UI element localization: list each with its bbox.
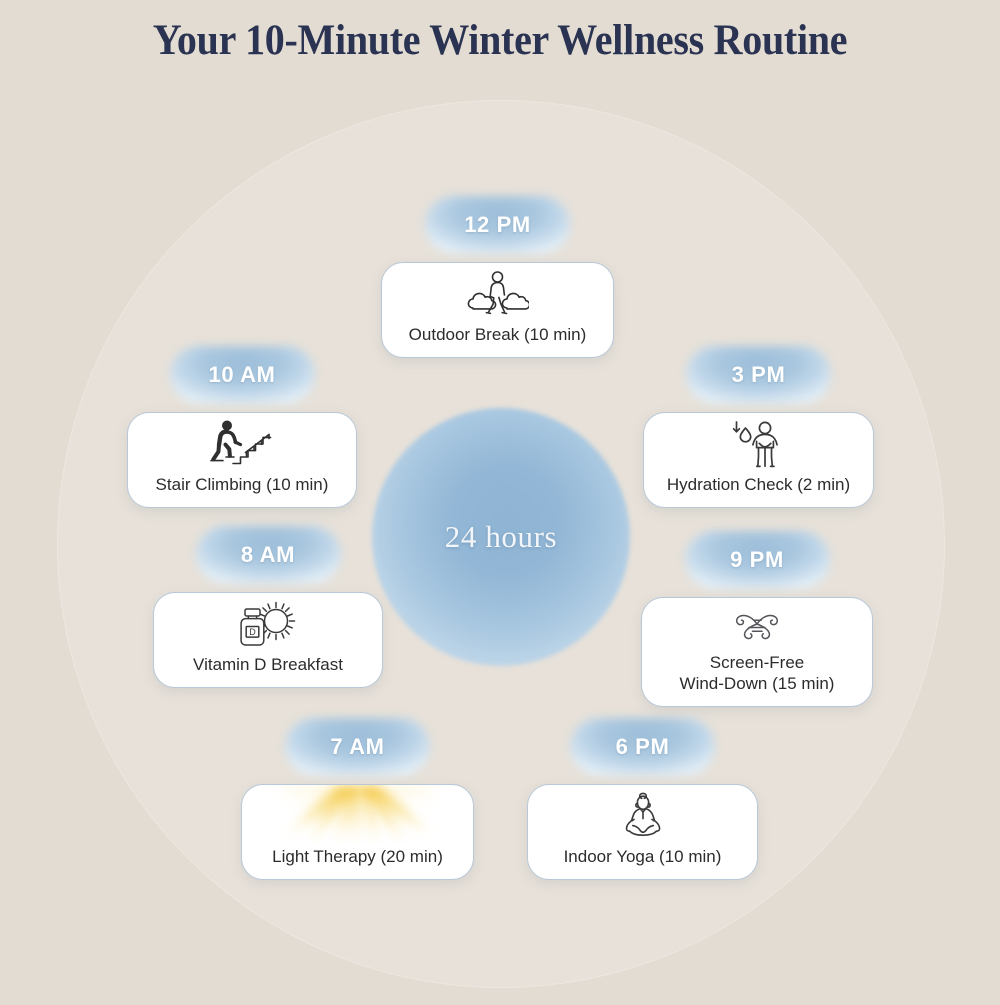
- vitamin-bottle-sun-icon: D: [154, 593, 382, 654]
- infographic-canvas: Your 10-Minute Winter Wellness Routine 2…: [0, 0, 1000, 1005]
- water-droplet-person-icon: [644, 413, 873, 474]
- activity-card-stair-climbing[interactable]: Stair Climbing (10 min): [127, 412, 357, 508]
- node-light-therapy[interactable]: 7 AM: [241, 718, 474, 880]
- stair-climbing-icon: [128, 413, 356, 474]
- activity-card-label: Light Therapy (20 min): [262, 846, 453, 867]
- time-pill-label: 6 PM: [616, 734, 670, 760]
- node-screen-free-wind-down[interactable]: 9 PM Screen-Free Wind-Down (15 min): [641, 531, 873, 707]
- activity-card-indoor-yoga[interactable]: Indoor Yoga (10 min): [527, 784, 758, 880]
- activity-card-hydration-check[interactable]: Hydration Check (2 min): [643, 412, 874, 508]
- node-indoor-yoga[interactable]: 6 PM: [527, 718, 758, 880]
- activity-card-vitamin-d[interactable]: D Vitamin D Breakfast: [153, 592, 383, 688]
- activity-card-label: Outdoor Break (10 min): [399, 324, 597, 345]
- yoga-lotus-pose-icon: [528, 785, 757, 846]
- time-pill-label: 12 PM: [464, 212, 531, 238]
- time-pill-label: 10 AM: [209, 362, 276, 388]
- activity-card-label: Stair Climbing (10 min): [146, 474, 339, 495]
- node-vitamin-d-breakfast[interactable]: 8 AM D Vitamin D Breakfast: [153, 526, 383, 688]
- time-pill-9pm: 9 PM: [685, 531, 830, 589]
- center-orb-label: 24 hours: [372, 408, 630, 666]
- activity-card-light-therapy[interactable]: Light Therapy (20 min): [241, 784, 474, 880]
- node-outdoor-break[interactable]: 12 PM Outdoor Break (10 min): [381, 196, 614, 358]
- page-title: Your 10-Minute Winter Wellness Routine: [35, 16, 965, 65]
- time-pill-label: 3 PM: [732, 362, 786, 388]
- time-pill-12pm: 12 PM: [425, 196, 570, 254]
- node-hydration-check[interactable]: 3 PM Hydration: [643, 346, 874, 508]
- time-pill-label: 8 AM: [241, 542, 295, 568]
- activity-card-wind-down[interactable]: Screen-Free Wind-Down (15 min): [641, 597, 873, 707]
- activity-card-label: Screen-Free Wind-Down (15 min): [670, 652, 845, 694]
- activity-card-label: Indoor Yoga (10 min): [554, 846, 732, 867]
- time-pill-3pm: 3 PM: [686, 346, 831, 404]
- activity-card-label: Vitamin D Breakfast: [183, 654, 353, 675]
- person-walking-clouds-icon: [382, 263, 613, 324]
- svg-text:D: D: [249, 626, 256, 636]
- activity-card-label: Hydration Check (2 min): [657, 474, 860, 495]
- activity-card-outdoor-break[interactable]: Outdoor Break (10 min): [381, 262, 614, 358]
- node-stair-climbing[interactable]: 10 AM Stair Climbing (10 min): [127, 346, 357, 508]
- time-pill-8am: 8 AM: [196, 526, 341, 584]
- time-pill-label: 7 AM: [330, 734, 384, 760]
- time-pill-label: 9 PM: [730, 547, 784, 573]
- wind-swirl-icon: [642, 598, 872, 652]
- time-pill-7am: 7 AM: [285, 718, 430, 776]
- sunburst-glow-icon: [242, 785, 473, 843]
- time-pill-10am: 10 AM: [170, 346, 315, 404]
- time-pill-6pm: 6 PM: [570, 718, 715, 776]
